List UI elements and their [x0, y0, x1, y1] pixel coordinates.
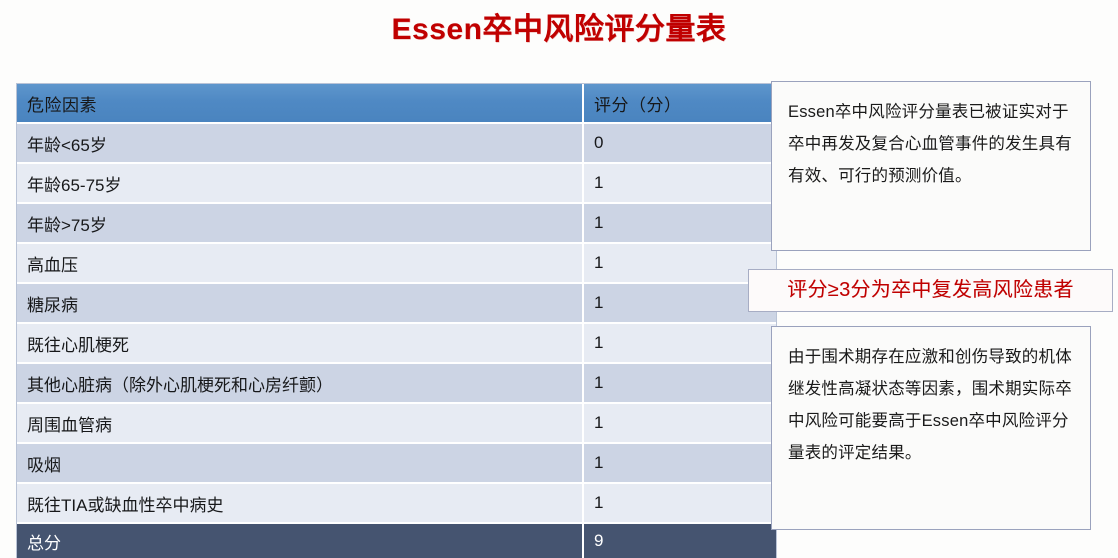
cell-risk-factor: 年龄<65岁 [17, 123, 583, 163]
table-header: 危险因素 评分（分） [17, 84, 776, 123]
cell-score: 1 [583, 163, 776, 203]
column-header-risk-factor: 危险因素 [17, 84, 583, 123]
cell-score: 1 [583, 203, 776, 243]
note-box-validation: Essen卒中风险评分量表已被证实对于卒中再发及复合心血管事件的发生具有有效、可… [771, 81, 1091, 251]
cell-score: 1 [583, 323, 776, 363]
table-row: 既往TIA或缺血性卒中病史 1 [17, 483, 776, 523]
cell-risk-factor: 周围血管病 [17, 403, 583, 443]
table-row: 高血压 1 [17, 243, 776, 283]
cell-risk-factor: 吸烟 [17, 443, 583, 483]
table-row-total: 总分 9 [17, 523, 776, 558]
cell-risk-factor: 糖尿病 [17, 283, 583, 323]
table-row: 年龄65-75岁 1 [17, 163, 776, 203]
cell-score: 1 [583, 483, 776, 523]
table-row: 其他心脏病（除外心肌梗死和心房纤颤） 1 [17, 363, 776, 403]
cell-score: 1 [583, 443, 776, 483]
page-title: Essen卒中风险评分量表 [0, 10, 1118, 50]
table-row: 糖尿病 1 [17, 283, 776, 323]
table-row: 吸烟 1 [17, 443, 776, 483]
cell-risk-factor: 其他心脏病（除外心肌梗死和心房纤颤） [17, 363, 583, 403]
cell-risk-factor: 高血压 [17, 243, 583, 283]
table-row: 年龄>75岁 1 [17, 203, 776, 243]
cell-risk-factor: 年龄65-75岁 [17, 163, 583, 203]
table-header-row: 危险因素 评分（分） [17, 84, 776, 123]
table-row: 年龄<65岁 0 [17, 123, 776, 163]
cell-risk-factor: 既往TIA或缺血性卒中病史 [17, 483, 583, 523]
cell-total-score: 9 [583, 523, 776, 558]
cell-score: 1 [583, 363, 776, 403]
column-header-score: 评分（分） [583, 84, 776, 123]
table-row: 周围血管病 1 [17, 403, 776, 443]
cell-score: 1 [583, 403, 776, 443]
cell-score: 0 [583, 123, 776, 163]
table-row: 既往心肌梗死 1 [17, 323, 776, 363]
table-body: 年龄<65岁 0 年龄65-75岁 1 年龄>75岁 1 高血压 1 糖尿病 1… [17, 123, 776, 558]
highlight-box-high-risk-threshold: 评分≥3分为卒中复发高风险患者 [748, 269, 1113, 312]
note-box-perioperative-risk: 由于围术期存在应激和创伤导致的机体继发性高凝状态等因素，围术期实际卒中风险可能要… [771, 326, 1091, 530]
essen-score-table: 危险因素 评分（分） 年龄<65岁 0 年龄65-75岁 1 年龄>75岁 1 … [17, 84, 776, 558]
cell-risk-factor: 既往心肌梗死 [17, 323, 583, 363]
cell-risk-factor: 年龄>75岁 [17, 203, 583, 243]
cell-total-label: 总分 [17, 523, 583, 558]
